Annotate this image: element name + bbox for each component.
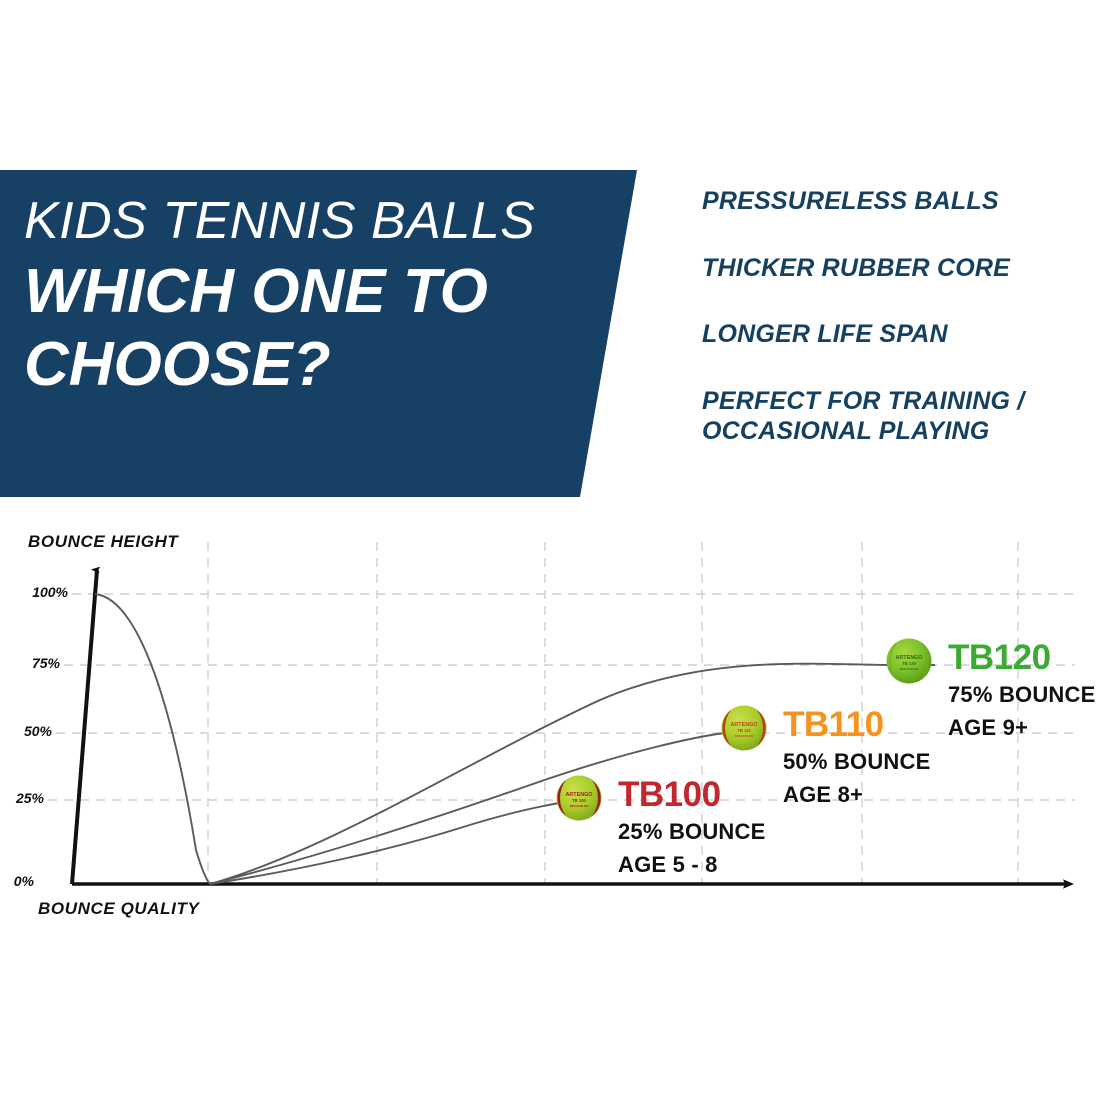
- product-bounce-tb110: 50% BOUNCE: [783, 749, 930, 775]
- infographic-root: KIDS TENNIS BALLS WHICH ONE TO CHOOSE? P…: [0, 0, 1100, 1100]
- product-bounce-tb100: 25% BOUNCE: [618, 819, 765, 845]
- svg-text:TB 110: TB 110: [737, 728, 751, 733]
- y-tick-0: 0%: [0, 873, 34, 889]
- product-age-tb110: AGE 8+: [783, 782, 930, 808]
- svg-text:TB 120: TB 120: [902, 661, 916, 666]
- feature-list: PRESSURELESS BALLS THICKER RUBBER CORE L…: [702, 186, 1092, 447]
- feature-item-perfect-for-training: PERFECT FOR TRAINING / OCCASIONAL PLAYIN…: [702, 386, 1092, 447]
- svg-text:DECATHLON: DECATHLON: [900, 667, 919, 671]
- feature-item-pressureless-balls: PRESSURELESS BALLS: [702, 186, 1092, 217]
- y-tick-75: 75%: [0, 655, 60, 671]
- tennis-ball-tb120-icon: ARTENGO TB 120 DECATHLON: [886, 638, 932, 684]
- feature-item-longer-life-span: LONGER LIFE SPAN: [702, 319, 1092, 350]
- y-axis: [72, 570, 97, 884]
- svg-text:DECATHLON: DECATHLON: [735, 734, 754, 738]
- feature-item-thicker-rubber-core: THICKER RUBBER CORE: [702, 253, 1092, 284]
- title-banner: KIDS TENNIS BALLS WHICH ONE TO CHOOSE?: [0, 170, 640, 497]
- product-name-tb110: TB110: [783, 707, 930, 742]
- x-axis-title: BOUNCE QUALITY: [38, 899, 199, 919]
- title-line-2: WHICH ONE TO: [24, 255, 640, 328]
- title-line-1: KIDS TENNIS BALLS: [24, 194, 640, 249]
- tennis-ball-tb110-icon: ARTENGO TB 110 DECATHLON: [721, 705, 767, 751]
- title-banner-text: KIDS TENNIS BALLS WHICH ONE TO CHOOSE?: [24, 194, 640, 401]
- curve-tb100: [210, 800, 583, 884]
- tennis-ball-tb100-icon: ARTENGO TB 100 DECATHLON: [556, 775, 602, 821]
- product-age-tb100: AGE 5 - 8: [618, 852, 765, 878]
- y-tick-100: 100%: [8, 584, 68, 600]
- title-line-3: CHOOSE?: [24, 328, 640, 401]
- y-tick-25: 25%: [0, 790, 44, 806]
- svg-text:TB 100: TB 100: [572, 798, 586, 803]
- y-tick-50: 50%: [0, 723, 52, 739]
- product-text-tb110: TB110 50% BOUNCE AGE 8+: [783, 707, 930, 808]
- curve-standard-decay: [95, 594, 210, 884]
- svg-text:DECATHLON: DECATHLON: [570, 804, 589, 808]
- bounce-chart: BOUNCE HEIGHT BOUNCE QUALITY 100% 75% 50…: [0, 520, 1100, 940]
- product-bounce-tb120: 75% BOUNCE: [948, 682, 1095, 708]
- product-age-tb120: AGE 9+: [948, 715, 1095, 741]
- product-name-tb100: TB100: [618, 777, 765, 812]
- product-text-tb100: TB100 25% BOUNCE AGE 5 - 8: [618, 777, 765, 878]
- product-text-tb120: TB120 75% BOUNCE AGE 9+: [948, 640, 1095, 741]
- product-name-tb120: TB120: [948, 640, 1095, 675]
- y-axis-title: BOUNCE HEIGHT: [28, 532, 178, 552]
- chart-canvas: [0, 520, 1100, 940]
